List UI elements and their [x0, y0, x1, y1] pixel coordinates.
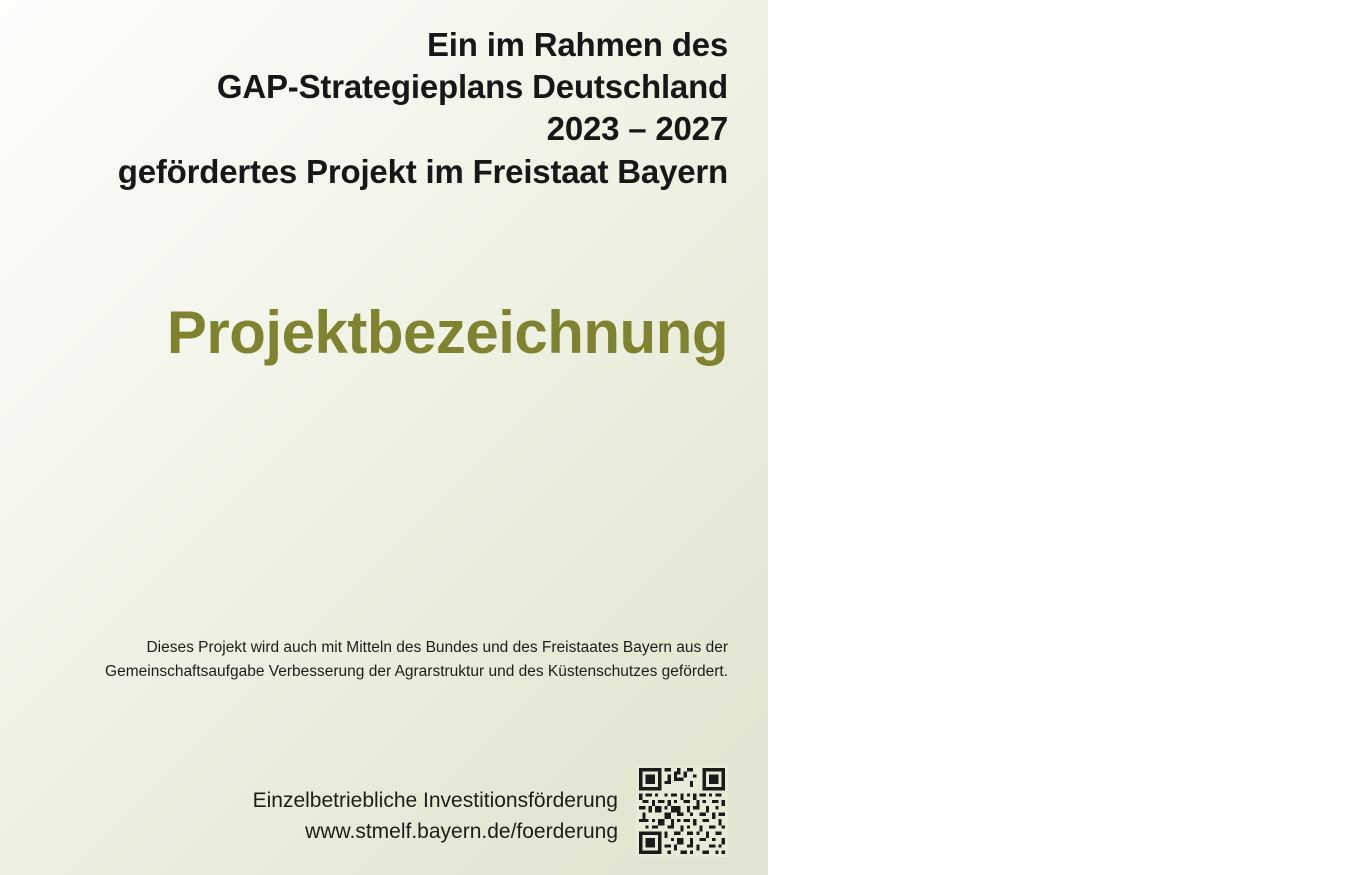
qr-code-icon[interactable]	[636, 765, 728, 857]
website-url[interactable]: www.stmelf.bayern.de/foerderung	[253, 817, 618, 847]
headline-line-3: 2023 – 2027	[0, 108, 728, 150]
footer-text: Einzelbetriebliche Investitionsförderung…	[253, 786, 618, 857]
left-panel: Ein im Rahmen des GAP-Strategieplans Deu…	[0, 0, 768, 875]
project-title: Projektbezeichnung	[0, 298, 728, 367]
headline-line-4: gefördertes Projekt im Freistaat Bayern	[0, 151, 728, 193]
headline-line-1: Ein im Rahmen des	[0, 24, 728, 66]
funding-note-line-2: Gemeinschaftsaufgabe Verbesserung der Ag…	[0, 660, 728, 684]
poster-root: Ein im Rahmen des GAP-Strategieplans Deu…	[0, 0, 1352, 875]
headline-line-2: GAP-Strategieplans Deutschland	[0, 66, 728, 108]
footer-block: Einzelbetriebliche Investitionsförderung…	[0, 765, 728, 857]
headline: Ein im Rahmen des GAP-Strategieplans Deu…	[0, 24, 728, 193]
programme-name: Einzelbetriebliche Investitionsförderung	[253, 786, 618, 816]
right-panel: Gefördert durch Bayerisches Staatsminist…	[768, 0, 1352, 875]
funding-note-line-1: Dieses Projekt wird auch mit Mitteln des…	[0, 636, 728, 660]
funding-note: Dieses Projekt wird auch mit Mitteln des…	[0, 636, 728, 684]
